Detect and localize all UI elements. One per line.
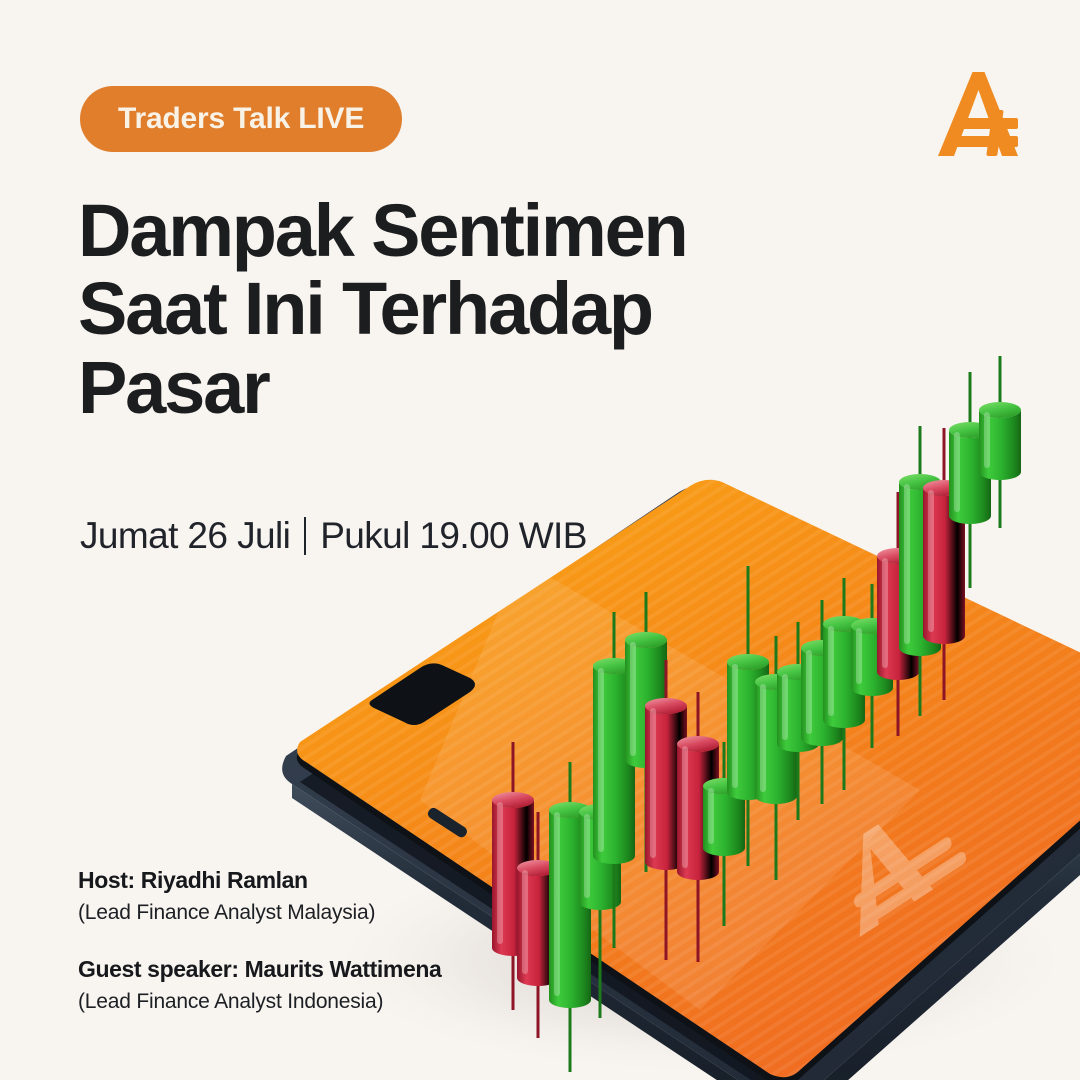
datetime-divider xyxy=(304,517,306,555)
live-badge: Traders Talk LIVE xyxy=(80,86,402,152)
poster-canvas: Traders Talk LIVE Dampak Sentimen Saat I… xyxy=(0,0,1080,1080)
event-date: Jumat 26 Juli xyxy=(80,515,290,557)
guest-role: (Lead Finance Analyst Indonesia) xyxy=(78,988,441,1016)
headline-line-2: Saat Ini Terhadap xyxy=(78,270,838,348)
ascendant-a-logo-icon xyxy=(926,58,1038,170)
credit-host: Host: Riyadhi Ramlan (Lead Finance Analy… xyxy=(78,866,441,927)
guest-name: Guest speaker: Maurits Wattimena xyxy=(78,955,441,985)
event-time: Pukul 19.00 WIB xyxy=(320,515,587,557)
headline-line-1: Dampak Sentimen xyxy=(78,192,838,270)
credit-guest: Guest speaker: Maurits Wattimena (Lead F… xyxy=(78,955,441,1016)
headline-line-3: Pasar xyxy=(78,349,838,427)
page-title: Dampak Sentimen Saat Ini Terhadap Pasar xyxy=(78,192,838,427)
host-name: Host: Riyadhi Ramlan xyxy=(78,866,441,896)
speaker-credits: Host: Riyadhi Ramlan (Lead Finance Analy… xyxy=(78,866,441,1016)
event-datetime: Jumat 26 Juli Pukul 19.00 WIB xyxy=(80,515,587,557)
host-role: (Lead Finance Analyst Malaysia) xyxy=(78,899,441,927)
